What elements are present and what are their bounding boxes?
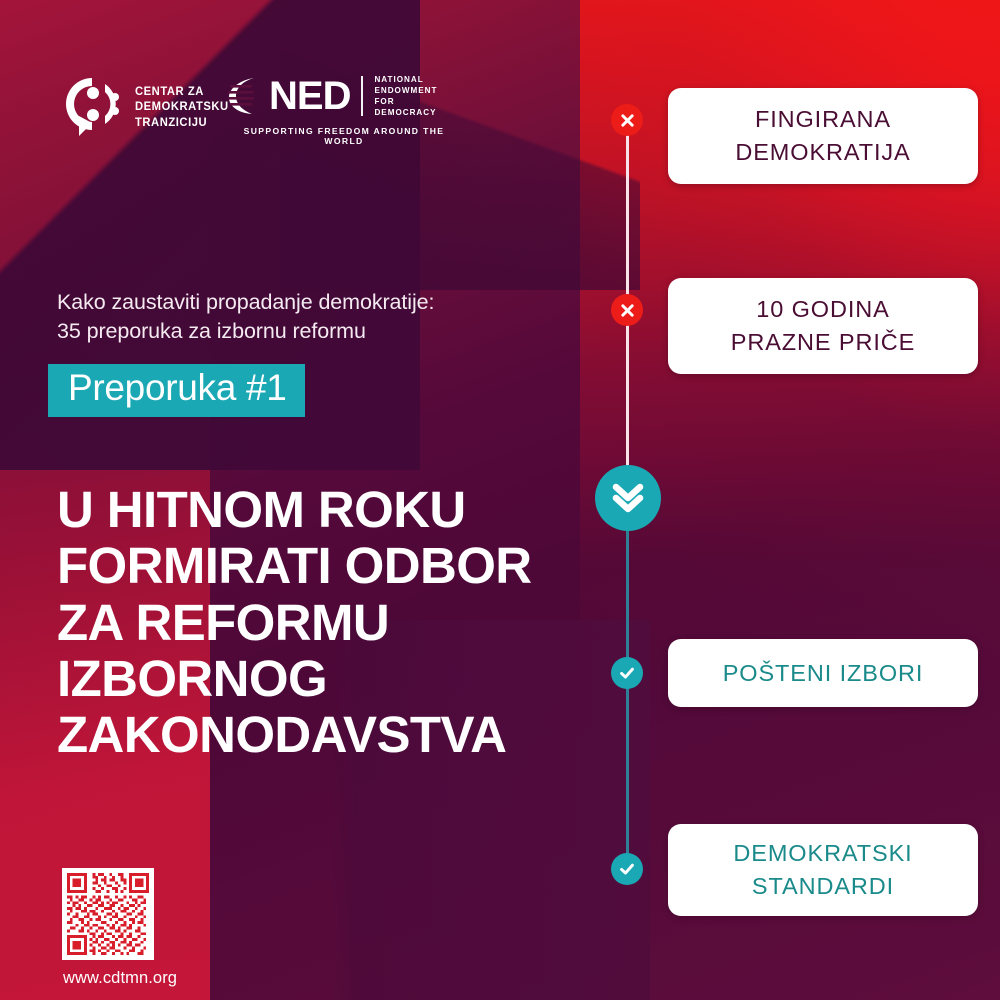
x-mark-icon: [619, 112, 636, 129]
timeline-card[interactable]: FINGIRANA DEMOKRATIJA: [668, 88, 978, 184]
timeline-node-positive-2: [611, 853, 643, 885]
check-mark-icon: [618, 664, 636, 682]
timeline-divider[interactable]: [595, 465, 661, 531]
timeline-card[interactable]: POŠTENI IZBORI: [668, 639, 978, 707]
double-chevron-down-icon: [608, 476, 648, 521]
x-mark-icon: [619, 302, 636, 319]
timeline-card[interactable]: 10 GODINA PRAZNE PRIČE: [668, 278, 978, 374]
timeline-card-label: 10 GODINA PRAZNE PRIČE: [731, 293, 915, 359]
timeline-node-negative-2: [611, 294, 643, 326]
check-mark-icon: [618, 860, 636, 878]
timeline-axis-lower: [626, 520, 629, 872]
timeline-node-positive-1: [611, 657, 643, 689]
timeline-card-label: FINGIRANA DEMOKRATIJA: [735, 103, 910, 169]
timeline-card-label: DEMOKRATSKI STANDARDI: [733, 837, 912, 903]
timeline-card-label: POŠTENI IZBORI: [723, 657, 924, 690]
timeline-card[interactable]: DEMOKRATSKI STANDARDI: [668, 824, 978, 916]
timeline-node-negative-1: [611, 104, 643, 136]
timeline: FINGIRANA DEMOKRATIJA 10 GODINA PRAZNE P…: [0, 0, 1000, 1000]
infographic-poster: CENTAR ZA DEMOKRATSKU TRANZICIJU: [0, 0, 1000, 1000]
